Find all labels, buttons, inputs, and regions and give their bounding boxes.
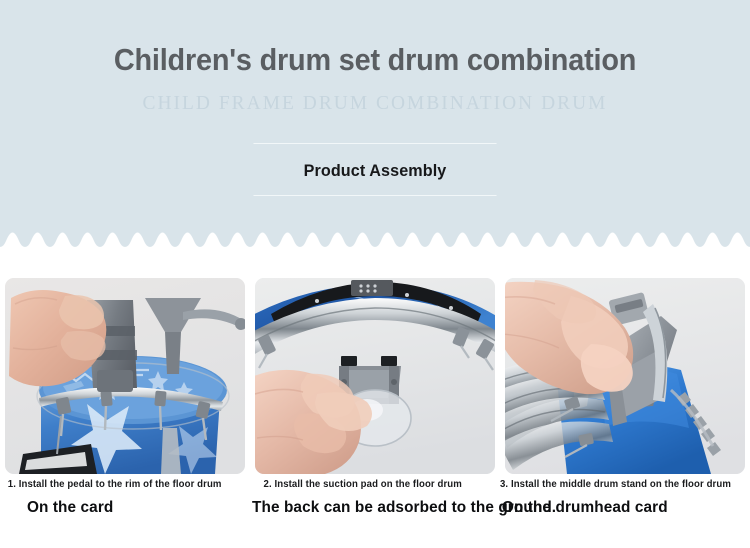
assembly-step-images [0, 278, 750, 474]
page-subtitle: CHILD FRAME DRUM COMBINATION DRUM [11, 79, 739, 116]
banner-text-group: Children's drum set drum combination CHI… [0, 0, 750, 116]
scalloped-edge-decoration [0, 230, 750, 252]
caption-step-1: 1. Install the pedal to the rim of the f… [2, 478, 248, 518]
divider-bottom [254, 195, 497, 196]
caption-step-3-note: On the drumhead card [500, 491, 736, 518]
section-heading-block: Product Assembly [254, 143, 497, 196]
caption-step-2-note: The back can be adsorbed to the ground. [252, 491, 488, 518]
section-label: Product Assembly [260, 144, 491, 195]
step-1-image[interactable] [5, 278, 245, 474]
step-2-image[interactable] [255, 278, 495, 474]
step-3-image[interactable] [505, 278, 745, 474]
caption-step-1-text: 1. Install the pedal to the rim of the f… [2, 478, 238, 491]
product-assembly-page: Children's drum set drum combination CHI… [0, 0, 750, 548]
header-banner: Children's drum set drum combination CHI… [0, 0, 750, 252]
caption-step-2-text: 2. Install the suction pad on the floor … [252, 478, 488, 491]
caption-step-2: 2. Install the suction pad on the floor … [252, 478, 498, 518]
caption-step-3-text: 3. Install the middle drum stand on the … [500, 478, 736, 491]
caption-step-1-note: On the card [2, 491, 238, 518]
caption-step-3: 3. Install the middle drum stand on the … [500, 478, 746, 518]
assembly-step-captions: 1. Install the pedal to the rim of the f… [0, 478, 750, 538]
page-title: Children's drum set drum combination [26, 0, 724, 79]
